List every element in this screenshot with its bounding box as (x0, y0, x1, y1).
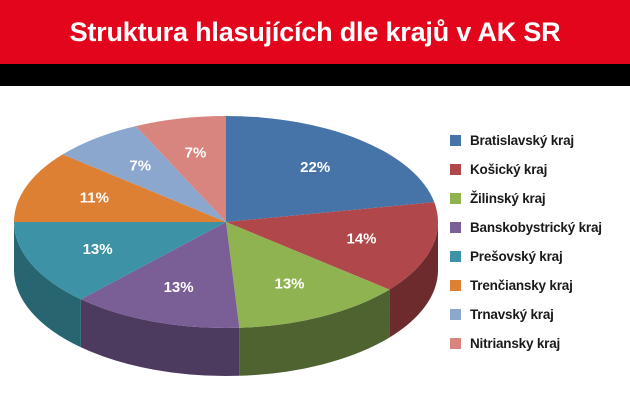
legend-item-label: Nitriansky kraj (470, 336, 560, 351)
pie-slice-value-label: 13% (164, 279, 194, 296)
pie-slice-value-label: 7% (185, 145, 207, 162)
legend-item[interactable]: Žilinský kraj (450, 184, 630, 213)
legend-item-label: Trenčiansky kraj (470, 278, 573, 293)
legend-swatch-icon (450, 309, 461, 320)
legend-swatch-icon (450, 193, 461, 204)
legend-item[interactable]: Banskobystrický kraj (450, 213, 630, 242)
pie-chart-svg: 22%14%13%13%13%11%7%7% (0, 86, 440, 400)
pie-slice-value-label: 22% (300, 159, 330, 176)
legend-item[interactable]: Košický kraj (450, 155, 630, 184)
legend-item[interactable]: Prešovský kraj (450, 242, 630, 271)
legend-swatch-icon (450, 338, 461, 349)
legend-item-label: Košický kraj (470, 162, 547, 177)
chart-page: Struktura hlasujících dle krajů v AK SR … (0, 0, 630, 400)
pie-slice-value-label: 13% (275, 275, 305, 292)
legend-item[interactable]: Trenčiansky kraj (450, 271, 630, 300)
legend-item-label: Žilinský kraj (470, 191, 545, 206)
legend-swatch-icon (450, 280, 461, 291)
legend: Bratislavský kraj Košický kraj Žilinský … (450, 126, 630, 358)
pie-slice-value-label: 11% (80, 189, 109, 206)
legend-swatch-icon (450, 164, 461, 175)
pie-chart: 22%14%13%13%13%11%7%7% (0, 86, 440, 400)
pie-slice-value-label: 7% (129, 158, 151, 175)
legend-item-label: Prešovský kraj (470, 249, 563, 264)
legend-swatch-icon (450, 135, 461, 146)
legend-item-label: Trnavský kraj (470, 307, 554, 322)
legend-item-label: Banskobystrický kraj (470, 220, 602, 235)
page-title: Struktura hlasujících dle krajů v AK SR (0, 0, 630, 64)
pie-slice-value-label: 14% (347, 230, 377, 247)
legend-item-label: Bratislavský kraj (470, 133, 574, 148)
legend-item[interactable]: Nitriansky kraj (450, 329, 630, 358)
legend-swatch-icon (450, 251, 461, 262)
legend-item[interactable]: Bratislavský kraj (450, 126, 630, 155)
legend-swatch-icon (450, 222, 461, 233)
pie-slice-value-label: 13% (83, 241, 113, 258)
legend-item[interactable]: Trnavský kraj (450, 300, 630, 329)
chart-area: 22%14%13%13%13%11%7%7% Bratislavský kraj… (0, 86, 630, 400)
title-underline-bar (0, 64, 630, 86)
